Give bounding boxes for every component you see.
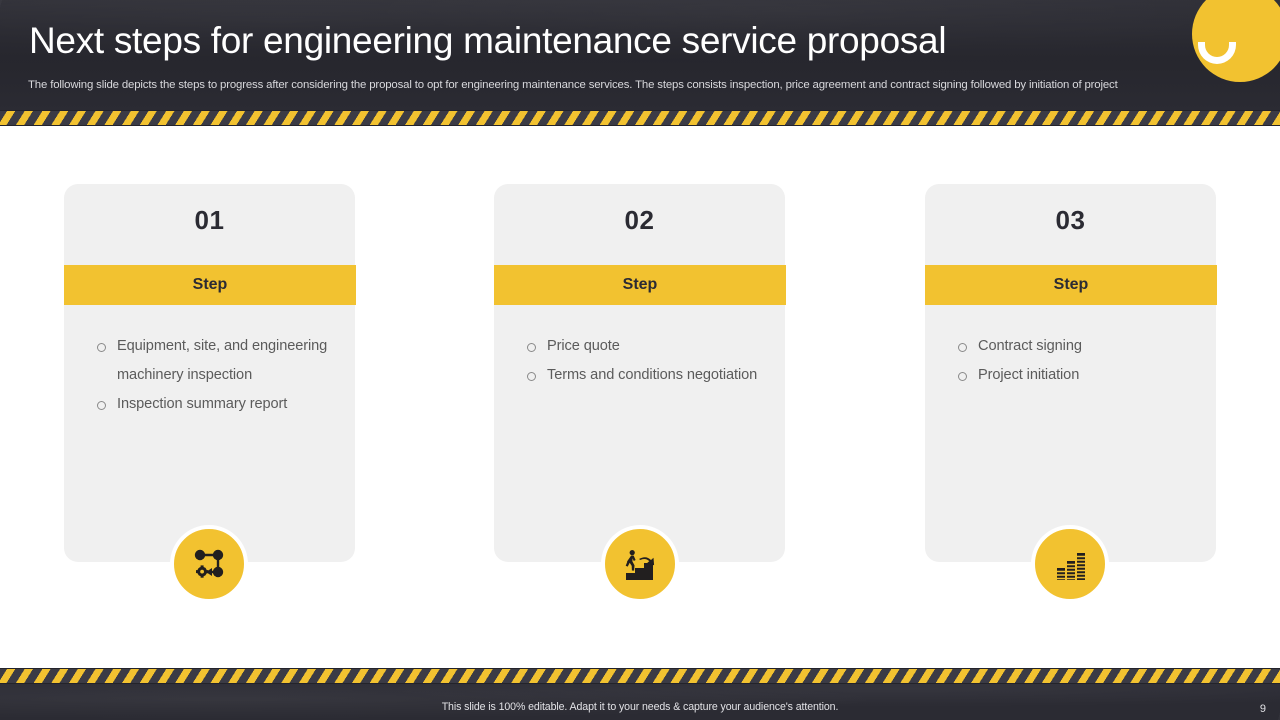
step-bullets-02: Price quote Terms and conditions negotia… (524, 332, 771, 390)
bar-chart-growth-icon (1031, 525, 1109, 603)
step-bullets-01: Equipment, site, and engineering machine… (94, 332, 341, 419)
list-item: Terms and conditions negotiation (524, 361, 771, 390)
step-band-03: Step (925, 265, 1217, 305)
list-item: Contract signing (955, 332, 1202, 361)
step-number-03: 03 (925, 184, 1216, 236)
page-number: 9 (1260, 703, 1266, 715)
person-climbing-stairs-icon (601, 525, 679, 603)
step-card-03[interactable]: 03 Step Contract signing Project initiat… (925, 184, 1216, 562)
step-bullets-03: Contract signing Project initiation (955, 332, 1202, 390)
process-workflow-gear-icon (170, 525, 248, 603)
step-number-01: 01 (64, 184, 355, 236)
list-item: Equipment, site, and engineering machine… (94, 332, 341, 390)
step-band-02: Step (494, 265, 786, 305)
step-card-01[interactable]: 01 Step Equipment, site, and engineering… (64, 184, 355, 562)
step-band-01: Step (64, 265, 356, 305)
steps-container: 01 Step Equipment, site, and engineering… (0, 0, 1280, 720)
hazard-stripe-bottom (0, 668, 1280, 684)
step-number-02: 02 (494, 184, 785, 236)
list-item: Inspection summary report (94, 390, 341, 419)
list-item: Price quote (524, 332, 771, 361)
list-item: Project initiation (955, 361, 1202, 390)
footer-note: This slide is 100% editable. Adapt it to… (0, 701, 1280, 713)
step-card-02[interactable]: 02 Step Price quote Terms and conditions… (494, 184, 785, 562)
